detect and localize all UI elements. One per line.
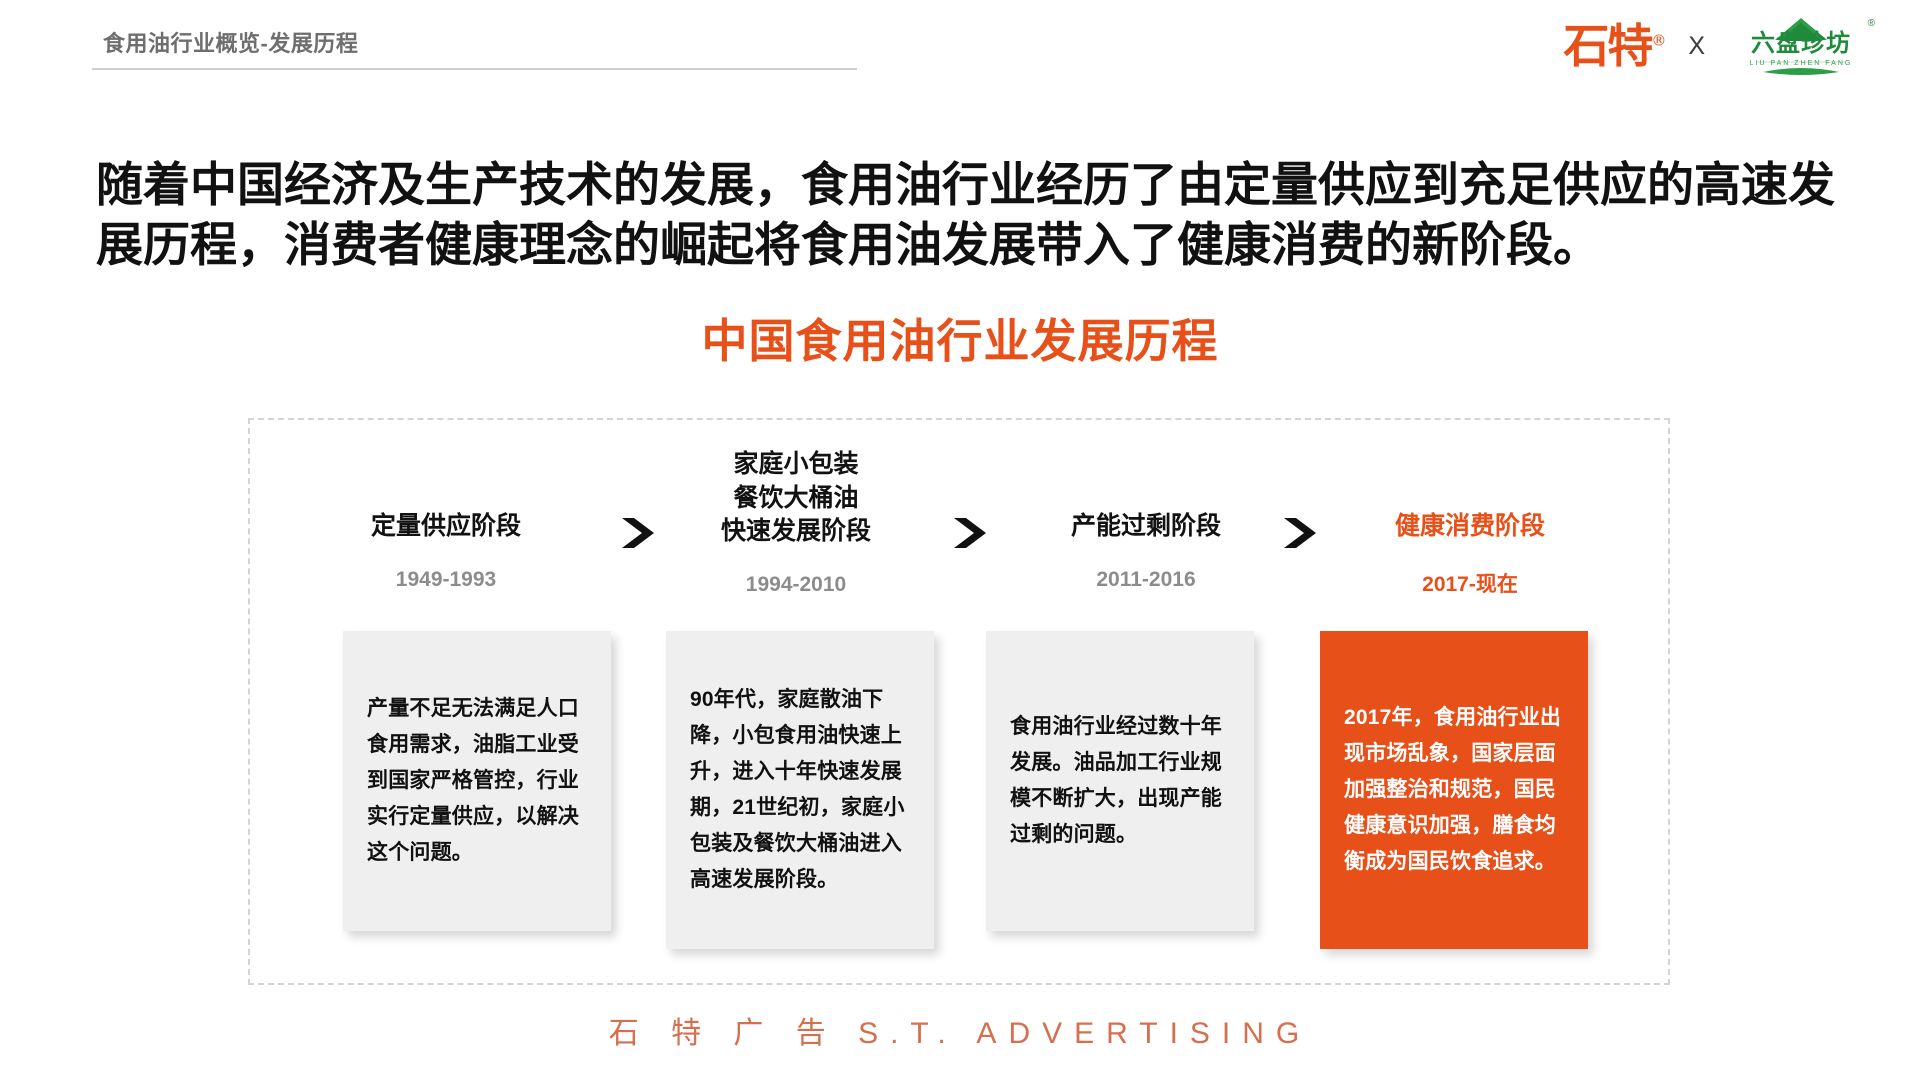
stage-2-description-text: 90年代，家庭散油下降，小包食用油快速上升，进入十年快速发展期，21世纪初，家庭… bbox=[690, 682, 910, 899]
registered-trademark-icon: ® bbox=[1651, 32, 1666, 50]
brand-logo-shite-text: 石特 bbox=[1563, 19, 1651, 73]
slide-header: 食用油行业概览-发展历程 石特® X 六盘珍坊 LIU PAN ZHEN FAN… bbox=[0, 0, 1920, 95]
partner-logo-pinyin: LIU PAN ZHEN FANG bbox=[1750, 60, 1853, 67]
logo-separator-x: X bbox=[1688, 32, 1705, 61]
stage-1-description-card: 产量不足无法满足人口食用需求，油脂工业受到国家严格管控，行业实行定量供应，以解决… bbox=[343, 631, 611, 931]
stage-4-description-text: 2017年，食用油行业出现市场乱象，国家层面加强整治和规范，国民健康意识加强，膳… bbox=[1344, 700, 1564, 881]
timeline-description-cards: 产量不足无法满足人口食用需求，油脂工业受到国家严格管控，行业实行定量供应，以解决… bbox=[248, 418, 1670, 985]
header-divider bbox=[92, 68, 857, 70]
stage-2-description-card: 90年代，家庭散油下降，小包食用油快速上升，进入十年快速发展期，21世纪初，家庭… bbox=[666, 631, 934, 949]
partner-logo-liupanzhenfang: 六盘珍坊 LIU PAN ZHEN FANG ® bbox=[1727, 14, 1875, 78]
stage-3-description-card: 食用油行业经过数十年发展。油品加工行业规模不断扩大，出现产能过剩的问题。 bbox=[986, 631, 1254, 931]
section-title: 中国食用油行业发展历程 bbox=[0, 305, 1920, 371]
slide-root: 食用油行业概览-发展历程 石特® X 六盘珍坊 LIU PAN ZHEN FAN… bbox=[0, 0, 1920, 1080]
partner-logo-text: 六盘珍坊 bbox=[1751, 32, 1851, 56]
page-title: 食用油行业概览-发展历程 bbox=[103, 26, 358, 58]
stage-3-description-text: 食用油行业经过数十年发展。油品加工行业规模不断扩大，出现产能过剩的问题。 bbox=[1010, 709, 1230, 853]
brand-logo-shite: 石特® bbox=[1563, 23, 1666, 69]
headline-text: 随着中国经济及生产技术的发展，食用油行业经历了由定量供应到充足供应的高速发展历程… bbox=[96, 155, 1836, 275]
footer-brand-text: 石 特 广 告 S.T. ADVERTISING bbox=[0, 1008, 1920, 1052]
logo-group: 石特® X 六盘珍坊 LIU PAN ZHEN FANG ® bbox=[1563, 14, 1875, 78]
partner-registered-trademark-icon: ® bbox=[1868, 18, 1875, 29]
stage-1-description-text: 产量不足无法满足人口食用需求，油脂工业受到国家严格管控，行业实行定量供应，以解决… bbox=[367, 691, 587, 872]
stage-4-description-card: 2017年，食用油行业出现市场乱象，国家层面加强整治和规范，国民健康意识加强，膳… bbox=[1320, 631, 1588, 949]
